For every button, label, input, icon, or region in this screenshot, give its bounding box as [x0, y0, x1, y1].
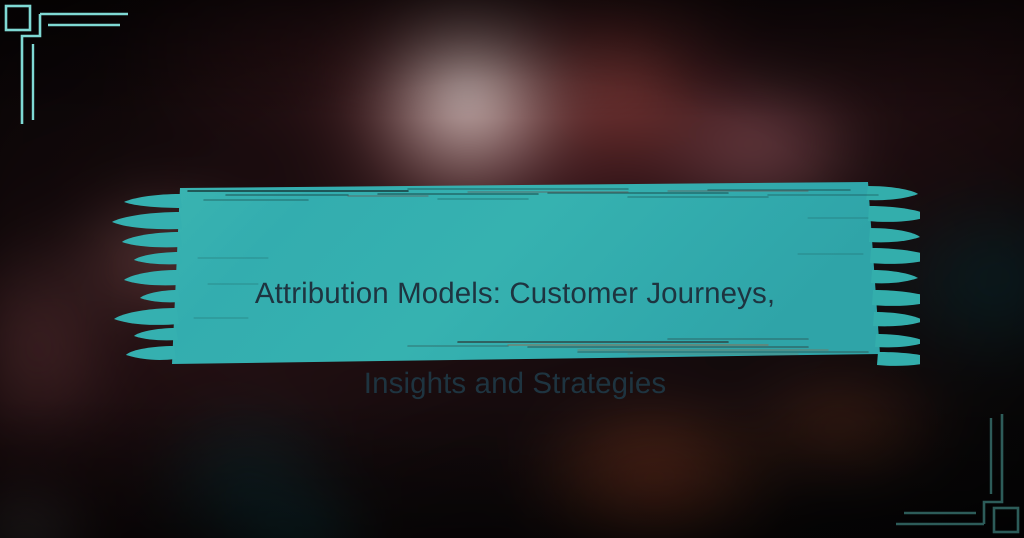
page-title-line-1: Attribution Models: Customer Journeys, [150, 271, 880, 316]
blog-header-banner: Attribution Models: Customer Journeys, I… [0, 0, 1024, 538]
page-title: Attribution Models: Customer Journeys, I… [150, 226, 880, 451]
circuit-corner-bottom-right-icon [889, 403, 1024, 538]
circuit-corner-top-left-icon [0, 0, 135, 135]
page-title-line-2: Insights and Strategies [150, 361, 880, 406]
